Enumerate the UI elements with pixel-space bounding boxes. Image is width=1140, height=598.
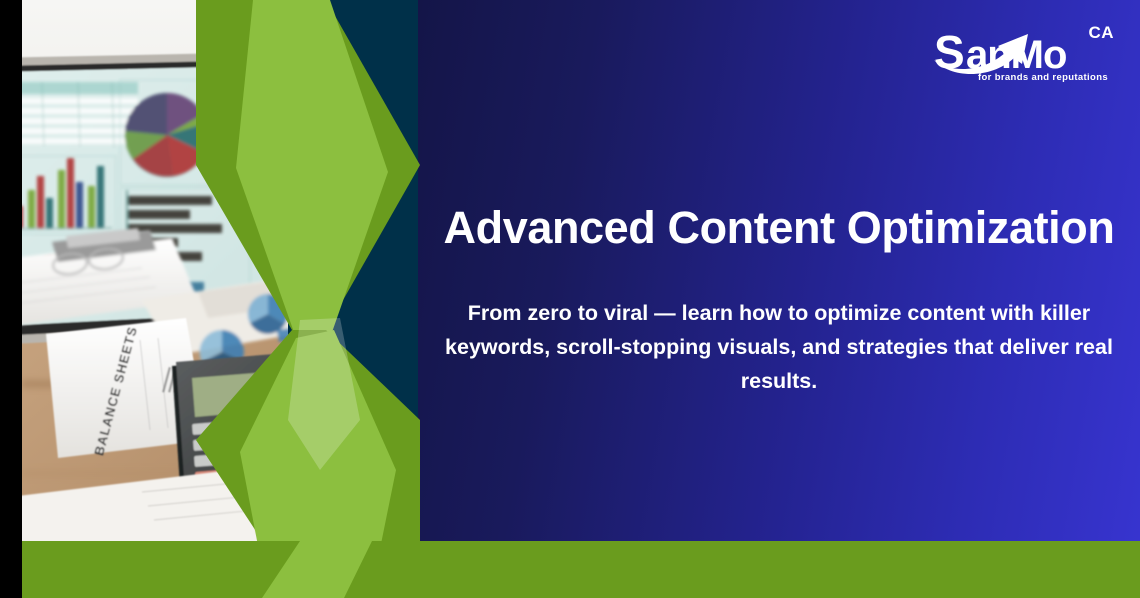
logo-row: S anMo CA (932, 22, 1114, 74)
logo-wordmark-text: anMo (966, 33, 1066, 74)
page-subtitle: From zero to viral — learn how to optimi… (429, 297, 1129, 399)
photo-illustration: BALANCE SHEETS (22, 0, 422, 598)
logo-letter-s: S (934, 26, 965, 74)
left-black-border (0, 0, 22, 598)
calculator-display: 98849 (252, 379, 317, 408)
page-title: Advanced Content Optimization (418, 203, 1140, 253)
sanmo-logo-svg: S anMo (932, 22, 1104, 74)
marketing-banner: BALANCE SHEETS (0, 0, 1140, 598)
sanmo-wordmark: S anMo (932, 22, 1104, 74)
hero-photo: BALANCE SHEETS (22, 0, 422, 598)
brand-logo[interactable]: S anMo CA for brands and reputations (932, 22, 1114, 83)
bottom-green-bar (0, 541, 1140, 598)
